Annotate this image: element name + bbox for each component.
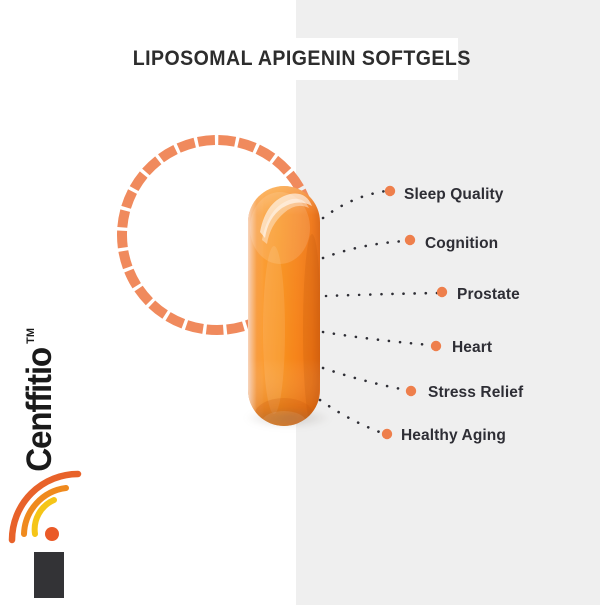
benefit-label-healthy-aging: Healthy Aging — [401, 427, 506, 445]
page-title: LIPOSOMAL APIGENIN SOFTGELS — [133, 47, 471, 71]
benefit-label-stress-relief: Stress Relief — [428, 384, 523, 402]
benefit-label-prostate: Prostate — [457, 286, 520, 304]
brand-name-text: Cenffitio — [20, 348, 60, 472]
benefit-label-sleep-quality: Sleep Quality — [404, 186, 504, 204]
brand-hub-dot — [45, 527, 59, 541]
trademark-symbol: TM — [25, 328, 37, 344]
brand-arcs-icon — [2, 464, 98, 556]
benefit-label-cognition: Cognition — [425, 235, 498, 253]
benefit-label-heart: Heart — [452, 339, 492, 357]
title-band: LIPOSOMAL APIGENIN SOFTGELS — [146, 38, 458, 80]
infographic-canvas: LIPOSOMAL APIGENIN SOFTGELS Sleep Qualit… — [0, 0, 600, 605]
brand-logo: CenffitioTM — [2, 296, 98, 596]
brand-accent-bar — [34, 552, 64, 598]
